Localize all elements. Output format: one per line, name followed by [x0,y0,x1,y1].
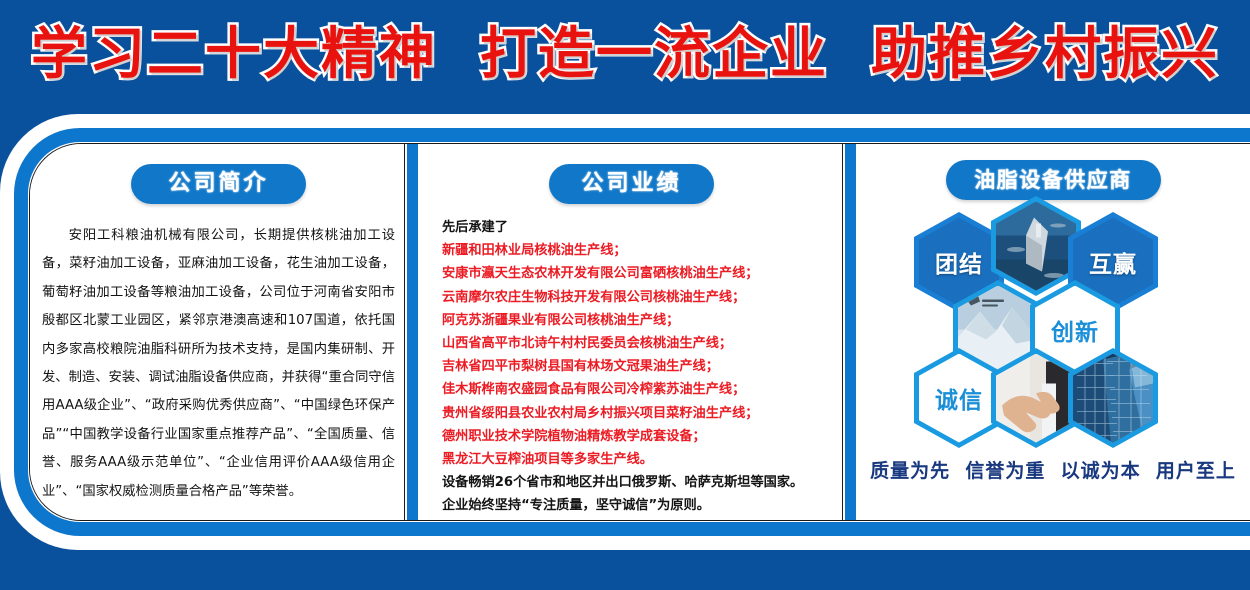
company-performance-panel: 公司业绩 先后承建了 新疆和田林业局核桃油生产线；安康市瀛天生态农林开发有限公司… [418,144,845,520]
performance-project-item: 安康市瀛天生态农林开发有限公司富硒核桃油生产线； [442,262,845,285]
hex-label: 诚信 [935,381,983,415]
performance-footnotes: 设备畅销26个省市和地区并出口俄罗斯、哈萨克斯坦等国家。企业始终坚持“专注质量，… [442,471,845,517]
handshake-photo [996,354,1076,443]
hex-inner [996,202,1076,291]
aircraft-carrier-photo [996,202,1076,291]
performance-project-item: 山西省高平市北诗午村村民委员会核桃油生产线； [442,332,845,355]
hex-label: 创新 [1051,313,1099,347]
hex-label: 团结 [935,245,983,279]
performance-project-item: 阿克苏浙疆果业有限公司核桃油生产线； [442,309,845,332]
performance-project-item: 贵州省绥阳县农业农村局乡村振兴项目菜籽油生产线； [442,402,845,425]
performance-project-item: 佳木斯桦南农盛园食品有限公司冷榨紫苏油生产线； [442,378,845,401]
company-performance-heading: 公司业绩 [549,164,714,204]
hex-aircraft-carrier-photo [991,196,1081,296]
performance-list: 先后承建了 新疆和田林业局核桃油生产线；安康市瀛天生态农林开发有限公司富硒核桃油… [442,216,845,518]
hex-inner [996,354,1076,443]
supplier-heading: 油脂设备供应商 [946,160,1161,200]
performance-footnote: 设备畅销26个省市和地区并出口俄罗斯、哈萨克斯坦等国家。 [442,471,845,494]
performance-project-item: 吉林省四平市梨树县国有林场文冠果油生产线； [442,355,845,378]
bottom-band [0,550,1250,590]
column-divider-2 [845,144,856,520]
performance-intro: 先后承建了 [442,216,845,239]
performance-project-item: 黑龙江大豆榨油项目等多家生产线。 [442,448,845,471]
hex-inner: 诚信 [919,354,999,443]
hexagon-cluster: 团结 互赢 创新诚信 [856,208,1250,448]
company-intro-heading: 公司简介 [131,164,306,204]
performance-project-item: 新疆和田林业局核桃油生产线； [442,239,845,262]
performance-projects: 新疆和田林业局核桃油生产线；安康市瀛天生态农林开发有限公司富硒核桃油生产线；云南… [442,239,845,471]
hex-label: 互赢 [1089,245,1137,279]
performance-project-item: 德州职业技术学院植物油精炼教学成套设备； [442,425,845,448]
company-intro-body: 安阳工科粮油机械有限公司，长期提供核桃油加工设备，菜籽油加工设备，亚麻油加工设备… [42,222,395,506]
skyscraper-photo [1073,354,1153,443]
performance-project-item: 云南摩尔农庄生物科技开发有限公司核桃油生产线； [442,286,845,309]
company-intro-panel: 公司简介 安阳工科粮油机械有限公司，长期提供核桃油加工设备，菜籽油加工设备，亚麻… [30,144,407,520]
supplier-slogan: 质量为先 信誉为重 以诚为本 用户至上 [856,456,1250,483]
supplier-panel: 油脂设备供应商 团结 互赢 创新诚信 [856,144,1250,520]
page-title: 学习二十大精神 打造一流企业 助推乡村振兴 [31,27,1219,87]
column-divider-1 [407,144,418,520]
hex-inner [1073,354,1153,443]
performance-footnote: 企业始终坚持“专注质量，坚守诚信”为原则。 [442,494,845,517]
poster-root: 学习二十大精神 打造一流企业 助推乡村振兴 公司简介 安阳工科粮油机械有限公司，… [0,0,1250,590]
title-banner: 学习二十大精神 打造一流企业 助推乡村振兴 [0,0,1250,114]
